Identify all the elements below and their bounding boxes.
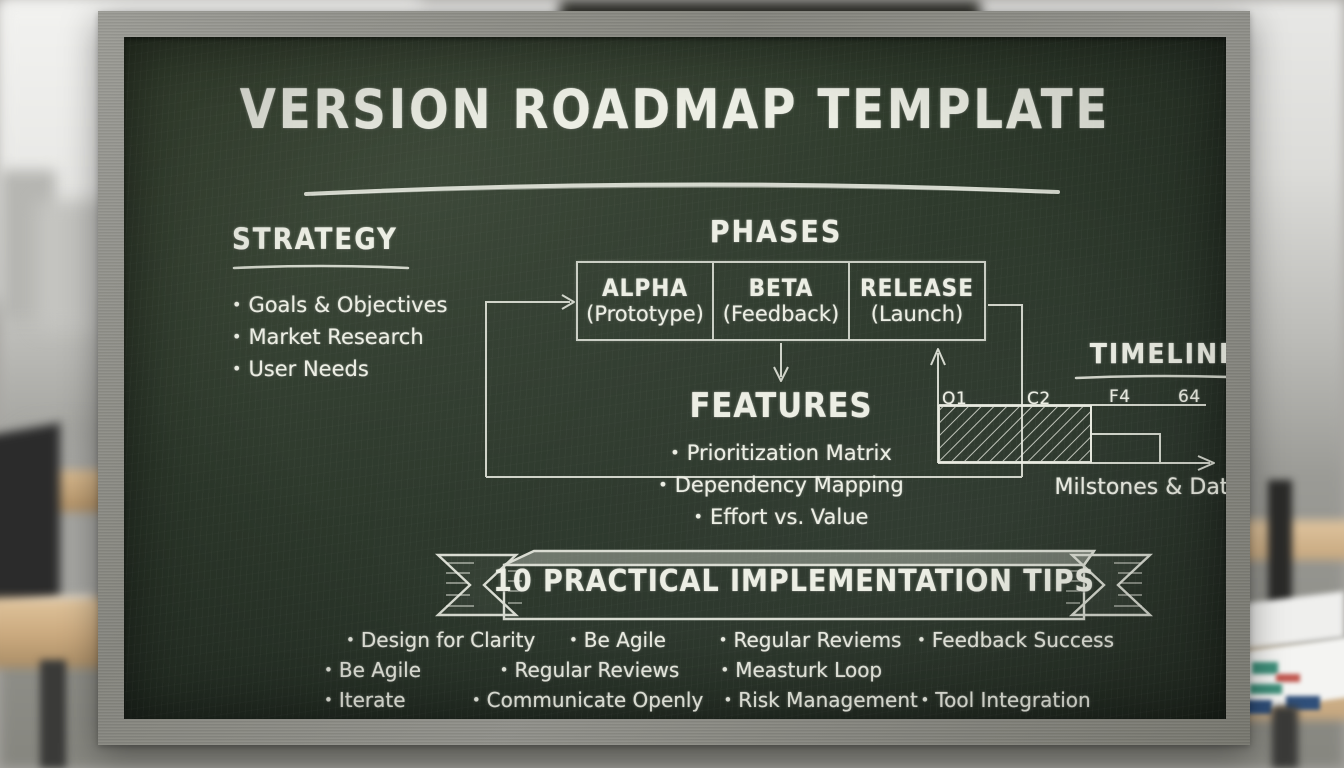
phase-subtitle: (Prototype) [586,303,704,326]
tip-label: Feedback Success [932,628,1114,652]
bullet-dot: • [569,631,578,649]
tips-row: •Design for Clarity •Be Agile •Regular R… [324,625,1114,655]
features-item-label: Effort vs. Value [710,505,869,529]
list-item: •User Needs [232,353,532,385]
tip-item: •Be Agile [324,655,478,685]
chalkboard: VERSION ROADMAP TEMPLATE [124,37,1226,719]
background-chart-bar [1252,662,1278,674]
bullet-dot: • [232,359,241,378]
tip-item: •Be Agile [569,625,711,655]
strategy-item-label: Market Research [248,325,423,349]
tip-label: Design for Clarity [361,628,536,652]
features-item-label: Prioritization Matrix [687,441,892,465]
phase-name: ALPHA [602,276,688,301]
bullet-dot: • [324,661,333,679]
bullet-dot: • [324,691,333,709]
tip-label: Be Agile [584,628,666,652]
background-post [1268,480,1292,610]
tip-label: Tool Integration [935,688,1090,712]
strategy-section: STRATEGY •Goals & Objectives •Market Res… [232,222,532,385]
strategy-heading: STRATEGY [232,222,532,256]
strategy-list: •Goals & Objectives •Market Research •Us… [232,289,532,385]
phase-beta[interactable]: BETA (Feedback) [714,263,850,339]
timeline-bar-planned [1091,434,1160,462]
list-item: •Goals & Objectives [232,289,532,321]
tip-label: Risk Management [738,688,918,712]
tips-banner-label: 10 PRACTICAL IMPLEMENTATION TIPS [434,564,1154,599]
bullet-dot: • [658,475,667,494]
bullet-dot: • [917,631,926,649]
timeline-caption: Milstones & Dates [954,475,1226,500]
bullet-dot: • [232,327,241,346]
bullet-dot: • [670,443,679,462]
timeline-bar-completed [939,406,1091,462]
tip-label: Be Agile [339,658,421,682]
tip-item: •Tool Integration [908,685,1114,715]
bullet-dot: • [720,661,729,679]
background-desk-leg-left [40,660,66,768]
background-chart-bar [1250,684,1282,694]
background-desk-leg-right [1272,706,1298,768]
strategy-item-label: User Needs [248,357,368,381]
tip-item: •Regular Reviems [711,625,917,655]
list-item: •Market Research [232,321,532,353]
phase-name: BETA [749,276,814,301]
phase-release[interactable]: RELEASE (Launch) [850,263,984,339]
tip-label: Regular Reviems [734,628,902,652]
bullet-dot: • [232,295,241,314]
list-item: •Dependency Mapping [576,469,986,501]
features-item-label: Dependency Mapping [675,473,904,497]
list-item: •Effort vs. Value [576,501,986,533]
tip-item: •Feedback Success [917,625,1114,655]
phases-heading: PHASES [616,215,936,250]
screenshot-scene: VERSION ROADMAP TEMPLATE [0,0,1344,768]
bullet-dot: • [694,507,703,526]
phases-box: ALPHA (Prototype) BETA (Feedback) RELEAS… [576,261,986,341]
tips-grid: •Design for Clarity •Be Agile •Regular R… [324,625,1114,715]
tip-label: Iterate [339,688,406,712]
bullet-dot: • [472,691,481,709]
tip-item: •Risk Management [723,685,908,715]
tip-item: •Iterate [324,685,450,715]
phase-subtitle: (Feedback) [723,303,839,326]
title-underline [302,179,1062,197]
tip-label: Measturk Loop [735,658,882,682]
timeline-chart [914,333,1224,473]
phase-subtitle: (Launch) [871,303,963,326]
page-title: VERSION ROADMAP TEMPLATE [146,83,1204,137]
tip-item: •Measturk Loop [720,655,922,685]
tip-item: •Regular Reviews [478,655,721,685]
background-laptop-screen [0,423,60,617]
tip-label: Regular Reviews [514,658,679,682]
strategy-item-label: Goals & Objectives [248,293,447,317]
bullet-dot: • [500,661,509,679]
bullet-dot: • [719,631,728,649]
tips-row: •Iterate •Communicate Openly •Risk Manag… [324,685,1114,715]
bullet-dot: • [346,631,355,649]
tips-row: •Be Agile •Regular Reviews •Measturk Loo… [324,655,1114,685]
chalkboard-frame: VERSION ROADMAP TEMPLATE [98,11,1250,745]
tip-label: Communicate Openly [487,688,704,712]
bullet-dot: • [920,691,929,709]
phase-alpha[interactable]: ALPHA (Prototype) [578,263,714,339]
phase-name: RELEASE [860,276,974,301]
tip-item: •Design for Clarity [324,625,569,655]
strategy-underline [232,263,410,271]
tip-item: •Communicate Openly [450,685,724,715]
bullet-dot: • [723,691,732,709]
background-chart-bar [1276,674,1300,682]
background-monitor-secondary [36,200,106,330]
tip-item-empty [922,655,1114,685]
